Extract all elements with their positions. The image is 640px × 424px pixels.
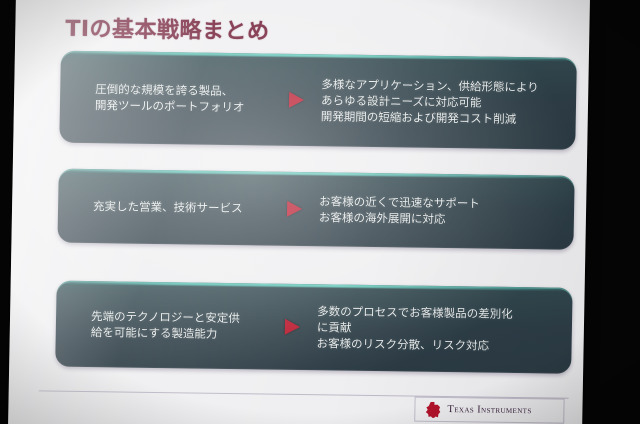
text-line: 開発ツールのポートフォリオ <box>95 97 275 116</box>
strategy-box-2[interactable]: 充実した営業、技術サービス お客様の近くで迅速なサポート お客様の海外展開に対応 <box>57 169 574 250</box>
strategy-box-2-left-text: 充実した営業、技術サービス <box>93 198 273 217</box>
page-title: TIの基本戦略まとめ <box>65 11 270 46</box>
strategy-box-1-right: 多様なアプリケーション、供給形態により あらゆる設計ニーズに対応可能 開発期間の… <box>317 76 577 128</box>
texas-instruments-logo-icon <box>425 401 440 417</box>
text-line: 給を可能にする製造能力 <box>91 324 271 343</box>
strategy-box-3[interactable]: 先端のテクノロジーと安定供 給を可能にする製造能力 多数のプロセスでお客様製品の… <box>55 281 573 374</box>
right-triangle-arrow-icon <box>286 201 301 217</box>
text-line: 充実した営業、技術サービス <box>93 198 273 217</box>
strategy-box-2-right-text: お客様の近くで迅速なサポート お客様の海外展開に対応 <box>319 193 561 228</box>
projection-photo: TIの基本戦略まとめ 圧倒的な規模を誇る製品、 開発ツールのポートフォリオ <box>0 0 640 424</box>
strategy-box-1-left: 圧倒的な規模を誇る製品、 開発ツールのポートフォリオ <box>60 81 276 116</box>
strategy-box-1-left-text: 圧倒的な規模を誇る製品、 開発ツールのポートフォリオ <box>95 81 276 116</box>
text-line: 開発期間の短縮および開発コスト削減 <box>321 108 562 127</box>
strategy-box-1-right-text: 多様なアプリケーション、供給形態により あらゆる設計ニーズに対応可能 開発期間の… <box>321 76 563 127</box>
strategy-box-3-left: 先端のテクノロジーと安定供 給を可能にする製造能力 <box>56 308 272 343</box>
footer-logo-frame: Texas Instruments <box>414 397 564 424</box>
strategy-box-1-arrow-cell <box>275 92 317 109</box>
text-line: お客様のリスク分散、リスク対応 <box>316 335 557 354</box>
right-triangle-arrow-icon <box>284 319 299 335</box>
strategy-box-1[interactable]: 圧倒的な規模を誇る製品、 開発ツールのポートフォリオ 多様なアプリケーション、供… <box>59 51 577 150</box>
slide: TIの基本戦略まとめ 圧倒的な規模を誇る製品、 開発ツールのポートフォリオ <box>8 0 590 424</box>
strategy-box-3-left-text: 先端のテクノロジーと安定供 給を可能にする製造能力 <box>91 308 272 343</box>
strategy-box-2-right: お客様の近くで迅速なサポート お客様の海外展開に対応 <box>315 193 575 229</box>
strategy-box-2-left: 充実した営業、技術サービス <box>58 198 273 217</box>
footer-wordmark: Texas Instruments <box>447 404 531 416</box>
strategy-box-2-arrow-cell <box>273 201 315 218</box>
right-triangle-arrow-icon <box>288 92 303 108</box>
strategy-box-1-row: 圧倒的な規模を誇る製品、 開発ツールのポートフォリオ 多様なアプリケーション、供… <box>59 51 577 150</box>
strategy-box-3-right-text: 多数のプロセスでお客様製品の差別化 に貢献 お客様のリスク分散、リスク対応 <box>316 303 558 354</box>
strategy-box-3-right: 多数のプロセスでお客様製品の差別化 に貢献 お客様のリスク分散、リスク対応 <box>312 303 572 355</box>
projection-screen: TIの基本戦略まとめ 圧倒的な規模を誇る製品、 開発ツールのポートフォリオ <box>8 0 590 424</box>
strategy-box-3-arrow-cell <box>271 319 313 336</box>
strategy-box-3-row: 先端のテクノロジーと安定供 給を可能にする製造能力 多数のプロセスでお客様製品の… <box>55 281 573 374</box>
strategy-box-2-row: 充実した営業、技術サービス お客様の近くで迅速なサポート お客様の海外展開に対応 <box>57 169 574 250</box>
text-line: お客様の海外展開に対応 <box>319 209 560 228</box>
text-line: 多数のプロセスでお客様製品の差別化 <box>317 303 558 322</box>
